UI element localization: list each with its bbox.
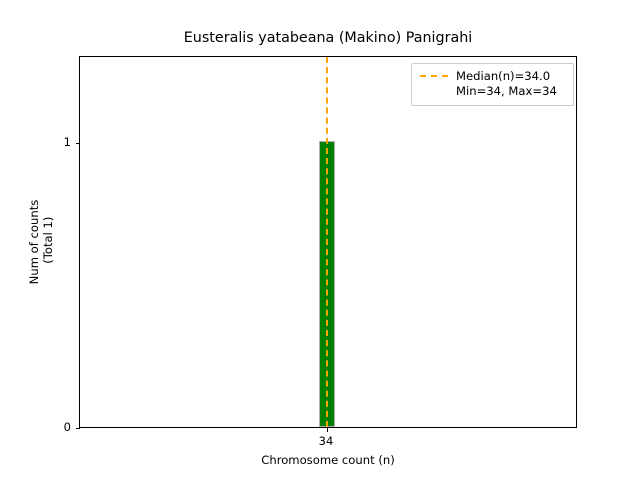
xtick-mark-34 bbox=[327, 428, 328, 432]
ytick-mark-1 bbox=[76, 143, 80, 144]
ytick-mark-0 bbox=[76, 428, 80, 429]
legend-label-minmax: Min=34, Max=34 bbox=[456, 84, 557, 99]
legend-marker-spacer bbox=[419, 84, 449, 86]
chart-legend[interactable]: Median(n)=34.0 Min=34, Max=34 bbox=[411, 63, 574, 106]
ytick-label-0: 0 bbox=[0, 422, 71, 434]
y-axis-label: Num of counts (Total 1) bbox=[27, 2, 56, 480]
legend-entry-minmax: Min=34, Max=34 bbox=[419, 84, 566, 99]
plot-area: Median(n)=34.0 Min=34, Max=34 bbox=[79, 56, 577, 428]
legend-label-median: Median(n)=34.0 bbox=[456, 69, 550, 84]
dashed-line-icon bbox=[419, 69, 449, 83]
ytick-label-1: 1 bbox=[0, 137, 71, 149]
legend-entry-median: Median(n)=34.0 bbox=[419, 69, 566, 84]
chart-title: Eusteralis yatabeana (Makino) Panigrahi bbox=[79, 31, 577, 45]
chart-figure: Eusteralis yatabeana (Makino) Panigrahi … bbox=[0, 0, 640, 480]
xtick-label-34: 34 bbox=[319, 436, 334, 448]
median-line bbox=[326, 57, 328, 427]
x-axis-label: Chromosome count (n) bbox=[79, 455, 577, 467]
